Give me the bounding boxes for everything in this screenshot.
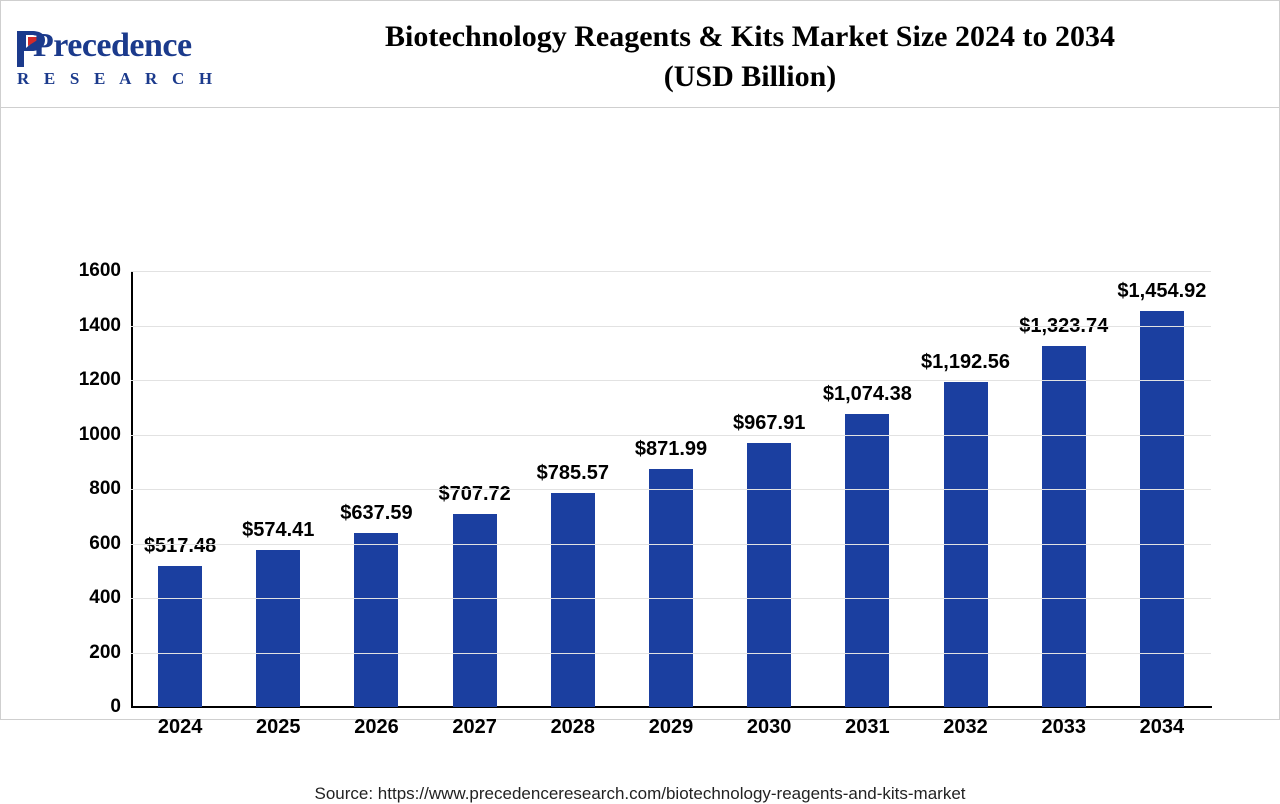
x-axis-tick-label: 2025 xyxy=(223,716,333,739)
logo-subtitle: R E S E A R C H xyxy=(17,69,217,89)
gridline xyxy=(131,380,1211,381)
bar[interactable] xyxy=(1140,311,1184,707)
y-axis-tick-label: 600 xyxy=(43,533,121,555)
gridline xyxy=(131,598,1211,599)
x-axis-tick-label: 2026 xyxy=(321,716,431,739)
plot-region: $517.48$574.41$637.59$707.72$785.57$871.… xyxy=(131,271,1211,707)
gridline xyxy=(131,653,1211,654)
y-axis-tick-label: 400 xyxy=(43,587,121,609)
bar[interactable] xyxy=(747,443,791,707)
logo-wordmark: Precedence xyxy=(33,27,192,65)
x-axis-tick-label: 2028 xyxy=(518,716,628,739)
bar[interactable] xyxy=(944,382,988,707)
gridline xyxy=(131,435,1211,436)
x-axis-tick-label: 2030 xyxy=(714,716,824,739)
gridline xyxy=(131,271,1211,272)
page-title-line2: (USD Billion) xyxy=(241,57,1259,97)
gridline xyxy=(131,544,1211,545)
x-axis-tick-label: 2031 xyxy=(812,716,922,739)
x-axis-tick-label: 2027 xyxy=(420,716,530,739)
bar[interactable] xyxy=(354,533,398,707)
chart-page: Precedence R E S E A R C H Biotechnology… xyxy=(0,0,1280,720)
bar[interactable] xyxy=(649,469,693,707)
y-axis-tick-label: 1000 xyxy=(43,424,121,446)
y-axis-tick-label: 1200 xyxy=(43,369,121,391)
bar[interactable] xyxy=(256,550,300,707)
page-title: Biotechnology Reagents & Kits Market Siz… xyxy=(241,17,1259,96)
source-caption: Source: https://www.precedenceresearch.c… xyxy=(1,784,1279,804)
bar[interactable] xyxy=(158,566,202,707)
x-axis-tick-label: 2032 xyxy=(911,716,1021,739)
chart-header: Precedence R E S E A R C H Biotechnology… xyxy=(1,1,1279,108)
precedence-research-logo: Precedence R E S E A R C H xyxy=(15,27,225,89)
x-axis-tick-label: 2024 xyxy=(125,716,235,739)
gridline xyxy=(131,326,1211,327)
x-axis-tick-label: 2033 xyxy=(1009,716,1119,739)
gridline xyxy=(131,489,1211,490)
x-axis-tick-label: 2029 xyxy=(616,716,726,739)
y-axis-tick-label: 800 xyxy=(43,478,121,500)
y-axis-tick-label: 200 xyxy=(43,642,121,664)
bar[interactable] xyxy=(845,414,889,707)
x-axis-tick-label: 2034 xyxy=(1107,716,1217,739)
y-axis-tick-label: 0 xyxy=(43,696,121,718)
y-axis-tick-label: 1600 xyxy=(43,260,121,282)
chart-area: $517.48$574.41$637.59$707.72$785.57$871.… xyxy=(1,108,1279,718)
y-axis-tick-label: 1400 xyxy=(43,315,121,337)
bar[interactable] xyxy=(551,493,595,707)
page-title-line1: Biotechnology Reagents & Kits Market Siz… xyxy=(385,20,1115,53)
bar-value-label: $1,454.92 xyxy=(1092,280,1232,303)
